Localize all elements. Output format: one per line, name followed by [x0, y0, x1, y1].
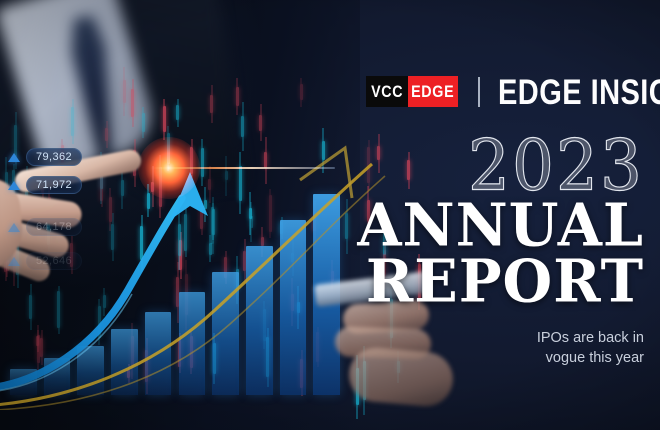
hud-readout: 79,362 — [8, 148, 82, 166]
logo-divider — [478, 77, 480, 107]
subtitle-line-2: vogue this year — [224, 349, 644, 369]
logo-vcc-text: VCC — [371, 76, 403, 107]
report-year: 2023 — [224, 134, 644, 198]
up-triangle-icon — [8, 257, 20, 266]
hud-value: 64,178 — [26, 218, 82, 236]
report-year-text: 2023 — [468, 134, 644, 198]
brand-title: EDGE INSIGHTS — [498, 74, 660, 110]
hud-readout: 52,646 — [8, 252, 82, 270]
annual-report-poster: 79,36271,97264,17852,646 VCC EDGE EDGE I… — [0, 0, 660, 430]
headline-block: 2023 ANNUAL REPORT IPOs are back in vogu… — [224, 138, 644, 368]
logo-edge-box: EDGE — [408, 76, 458, 107]
hud-readout: 64,178 — [8, 218, 82, 236]
brand-logo[interactable]: VCC EDGE EDGE INSIGHTS — [366, 75, 660, 108]
logo-vcc-box: VCC — [366, 76, 408, 107]
up-triangle-icon — [8, 223, 20, 232]
headline-line-annual: ANNUAL — [224, 198, 644, 254]
hud-value: 79,362 — [26, 148, 82, 166]
logo-edge-text: EDGE — [411, 76, 454, 107]
hud-readout: 71,972 — [8, 176, 82, 194]
subtitle-line-1: IPOs are back in — [224, 329, 644, 349]
up-triangle-icon — [8, 153, 20, 162]
hud-value: 71,972 — [26, 176, 82, 194]
hud-value: 52,646 — [26, 252, 82, 270]
headline-subtitle: IPOs are back in vogue this year — [224, 329, 644, 368]
up-triangle-icon — [8, 181, 20, 190]
headline-line-report: REPORT — [224, 255, 644, 311]
